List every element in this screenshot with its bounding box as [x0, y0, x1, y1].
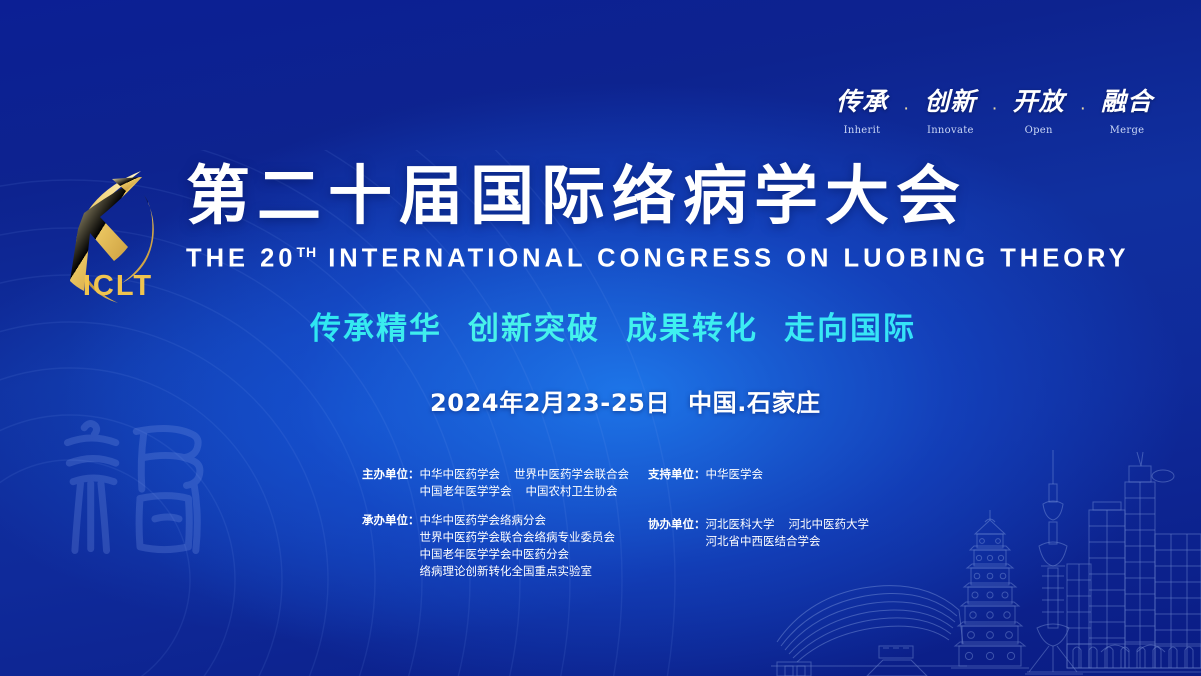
organiser-credits: 主办单位： 中华中医药学会世界中医药学会联合会 中国老年医学学会中国农村卫生协会…	[362, 466, 948, 580]
calligraphy-cn-0: 传承	[836, 88, 888, 116]
credit-org: 中华中医药学会络病分会	[420, 513, 547, 527]
page-title: 第二十届国际络病学大会	[186, 160, 1056, 236]
credit-line: 中华中医药学会世界中医药学会联合会	[420, 466, 630, 483]
title-subtitle-english: THE 20TH INTERNATIONAL CONGRESS ON LUOBI…	[186, 244, 1056, 274]
calligraphy-en-2: Open	[1025, 125, 1053, 136]
credit-org: 河北省中西医结合学会	[706, 534, 821, 548]
credit-org: 中国老年医学学会	[420, 484, 512, 498]
tagline: 传承精华创新突破成果转化走向国际	[310, 303, 916, 348]
credits-column-left: 主办单位： 中华中医药学会世界中医药学会联合会 中国老年医学学会中国农村卫生协会…	[362, 466, 648, 580]
credit-org: 河北中医药大学	[789, 517, 870, 531]
event-date: 2024年2月23-25日	[430, 389, 670, 417]
credit-label-host: 主办单位：	[362, 466, 420, 500]
svg-text:ICLT: ICLT	[83, 270, 153, 302]
calligraphy-separator-2: ·	[1079, 98, 1087, 126]
calligraphy-word-3: 融合 Merge	[1087, 88, 1167, 136]
credit-org: 河北医科大学	[706, 517, 775, 531]
credit-org: 中国农村卫生协会	[526, 484, 618, 498]
credit-line: 中华医学会	[706, 466, 764, 483]
credit-line: 中华中医药学会络病分会	[420, 512, 616, 529]
event-dateline: 2024年2月23-25日中国.石家庄	[430, 383, 821, 418]
calligraphy-separator-0: ·	[902, 98, 910, 126]
credit-org: 中华中医药学会	[420, 467, 501, 481]
credit-org: 世界中医药学会联合会	[514, 467, 629, 481]
calligraphy-en-0: Inherit	[844, 125, 881, 136]
event-city: 中国.石家庄	[688, 389, 821, 417]
title-block: 第二十届国际络病学大会 THE 20TH INTERNATIONAL CONGR…	[186, 160, 1056, 273]
calligraphy-separator-1: ·	[990, 98, 998, 126]
tagline-item-1: 创新突破	[468, 311, 600, 347]
credit-line: 中国老年医学学会中医药分会	[420, 546, 616, 563]
tagline-item-0: 传承精华	[310, 311, 442, 347]
calligraphy-word-0: 传承 Inherit	[822, 88, 902, 136]
calligraphy-word-2: 开放 Open	[999, 88, 1079, 136]
credit-org: 中华医学会	[706, 467, 764, 481]
conference-banner: 传承 Inherit · 创新 Innovate · 开放 Open · 融合 …	[0, 0, 1201, 676]
credit-lines-supporter: 中华医学会	[706, 466, 764, 483]
credit-lines-organiser: 中华中医药学会络病分会 世界中医药学会联合会络病专业委员会 中国老年医学学会中医…	[420, 512, 616, 580]
credit-line: 河北省中西医结合学会	[706, 533, 870, 550]
title-en-ordinal: TH	[296, 244, 317, 260]
credit-line: 中国老年医学学会中国农村卫生协会	[420, 483, 630, 500]
tagline-item-3: 走向国际	[784, 311, 916, 347]
iclt-logo: ICLT	[48, 155, 188, 305]
calligraphy-en-3: Merge	[1110, 125, 1145, 136]
title-en-prefix: THE 20	[186, 244, 296, 272]
credit-block-coorganiser: 协办单位： 河北医科大学河北中医药大学 河北省中西医结合学会	[648, 516, 948, 550]
credit-line: 河北医科大学河北中医药大学	[706, 516, 870, 533]
credit-block-supporter: 支持单位： 中华医学会	[648, 466, 948, 483]
calligraphy-row: 传承 Inherit · 创新 Innovate · 开放 Open · 融合 …	[822, 88, 1167, 136]
calligraphy-en-1: Innovate	[927, 125, 974, 136]
calligraphy-cn-1: 创新	[924, 88, 976, 116]
tagline-item-2: 成果转化	[626, 311, 758, 347]
credit-block-organiser: 承办单位： 中华中医药学会络病分会 世界中医药学会联合会络病专业委员会 中国老年…	[362, 512, 648, 580]
credit-label-organiser: 承办单位：	[362, 512, 420, 580]
credit-org: 中国老年医学学会中医药分会	[420, 547, 570, 561]
credit-lines-host: 中华中医药学会世界中医药学会联合会 中国老年医学学会中国农村卫生协会	[420, 466, 630, 500]
title-en-suffix: INTERNATIONAL CONGRESS ON LUOBING THEORY	[328, 244, 1129, 272]
credit-block-host: 主办单位： 中华中医药学会世界中医药学会联合会 中国老年医学学会中国农村卫生协会	[362, 466, 648, 500]
calligraphy-cn-2: 开放	[1013, 88, 1065, 116]
credit-label-coorganiser: 协办单位：	[648, 516, 706, 550]
calligraphy-cn-3: 融合	[1101, 88, 1153, 116]
credits-column-right: 支持单位： 中华医学会 协办单位： 河北医科大学河北中医药大学 河北省中西医结合…	[648, 466, 948, 580]
calligraphy-word-1: 创新 Innovate	[910, 88, 990, 136]
credit-org: 世界中医药学会联合会络病专业委员会	[420, 530, 616, 544]
credit-org: 络病理论创新转化全国重点实验室	[420, 564, 593, 578]
calligraphy-motto: 传承 Inherit · 创新 Innovate · 开放 Open · 融合 …	[822, 88, 1167, 136]
credits-spacer	[648, 495, 948, 516]
credit-lines-coorganiser: 河北医科大学河北中医药大学 河北省中西医结合学会	[706, 516, 870, 550]
credit-label-supporter: 支持单位：	[648, 466, 706, 483]
credit-line: 络病理论创新转化全国重点实验室	[420, 563, 616, 580]
watermark-character	[44, 398, 236, 584]
credit-line: 世界中医药学会联合会络病专业委员会	[420, 529, 616, 546]
